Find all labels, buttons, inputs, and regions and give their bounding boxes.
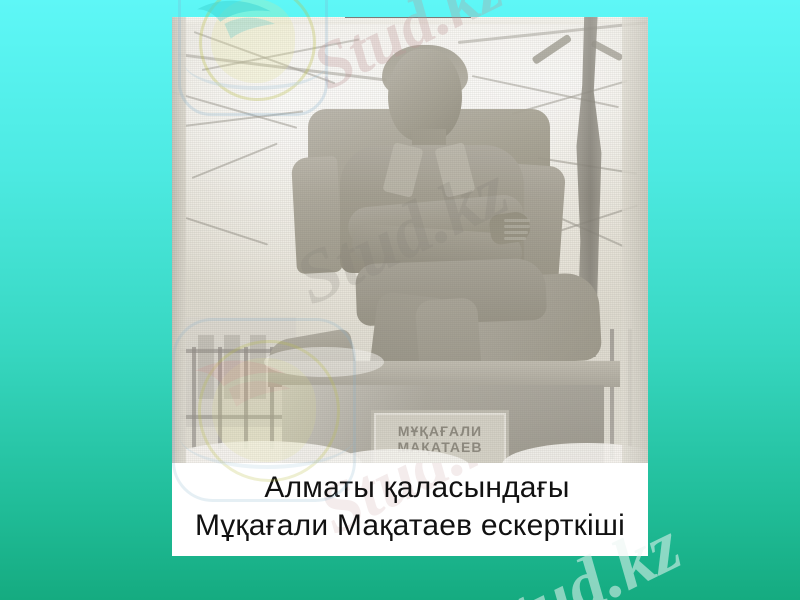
statue-finger <box>504 231 528 234</box>
caption-text: Алматы қаласындағы Мұқағали Мақатаев еск… <box>172 469 648 545</box>
presentation-slide: МҰҚАҒАЛИ МАҚАТАЕВ Stud.kz Stud.kz Алматы… <box>0 0 800 600</box>
plaque-line-1: МҰҚАҒАЛИ <box>398 424 482 438</box>
statue-finger <box>504 237 526 240</box>
statue-head <box>388 49 462 141</box>
scan-gutter-right <box>622 17 648 463</box>
caption-line-1: Алматы қаласындағы <box>172 469 648 507</box>
caption-panel: Stud.kz Алматы қаласындағы Мұқағали Мақа… <box>172 463 648 556</box>
statue-finger <box>504 219 530 222</box>
snow-drift <box>264 347 384 377</box>
statue-figure <box>172 17 648 463</box>
scan-gutter-left <box>172 17 186 463</box>
statue-finger <box>504 225 530 228</box>
statue-chair-arm-left <box>291 156 343 274</box>
monument-photo: МҰҚАҒАЛИ МАҚАТАЕВ Stud.kz <box>172 17 648 463</box>
caption-line-2: Мұқағали Мақатаев ескерткіші <box>172 507 648 545</box>
